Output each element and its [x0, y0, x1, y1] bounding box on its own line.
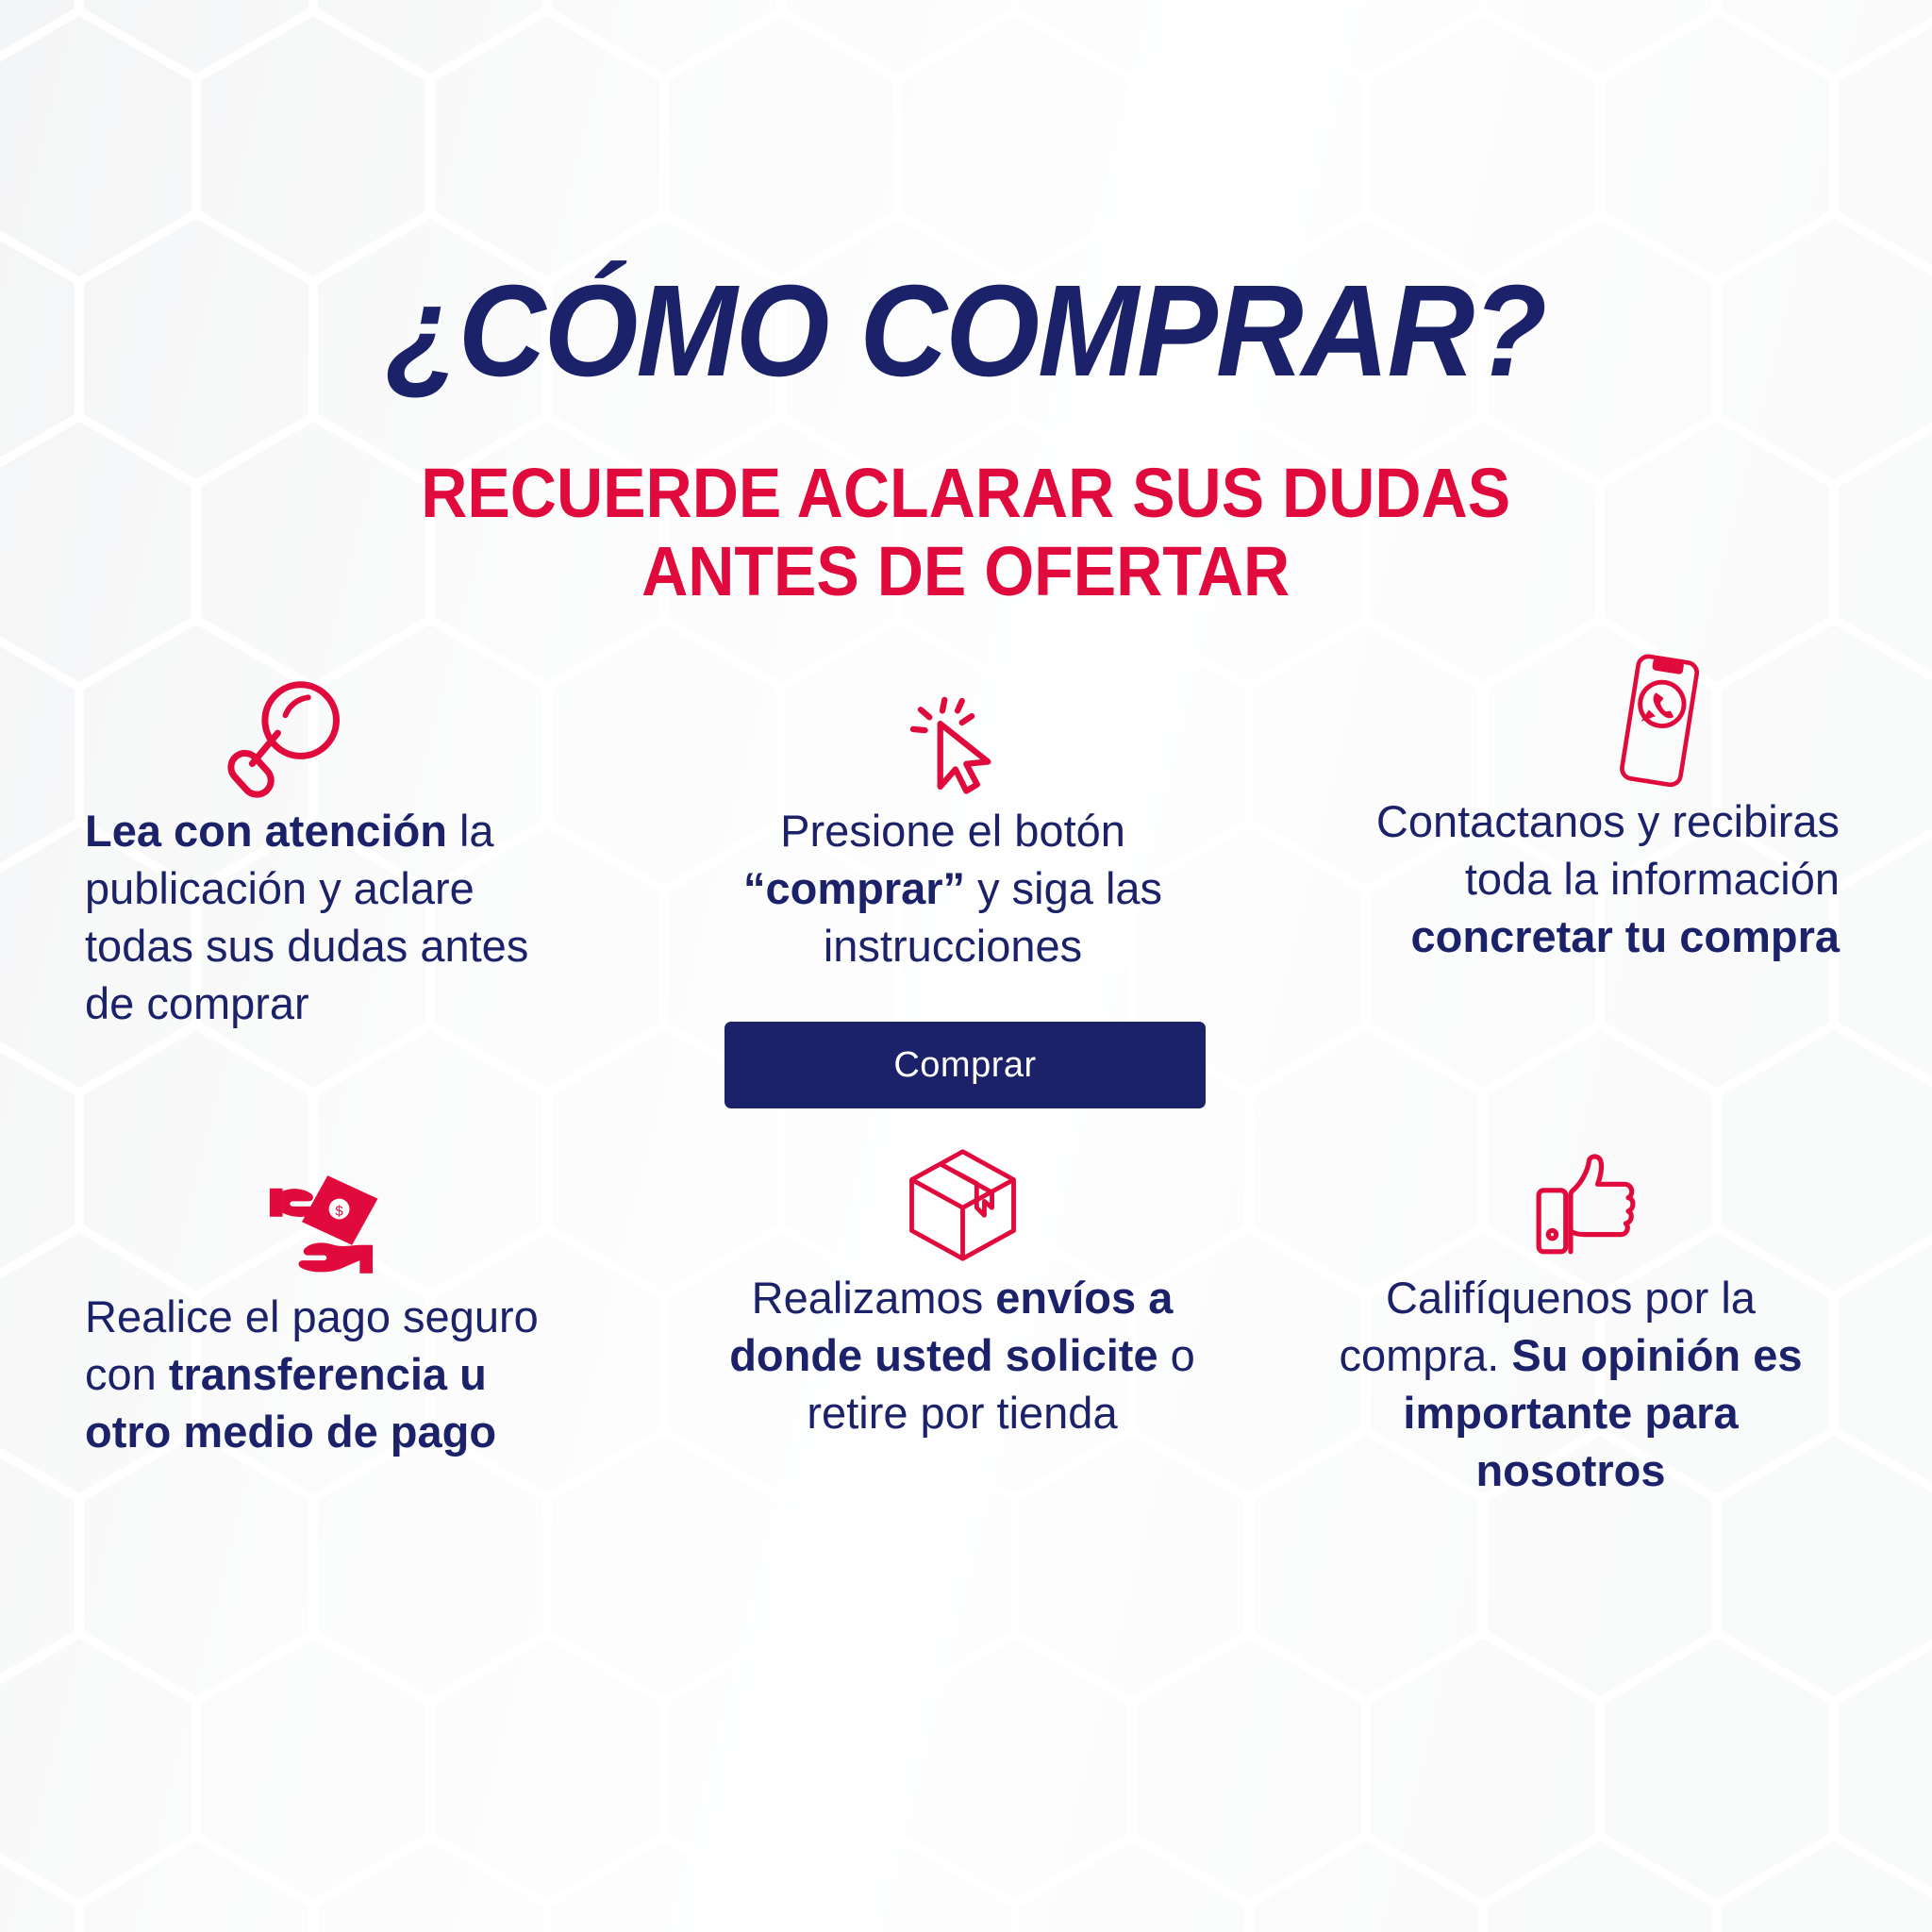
page-title-container: ¿CÓMO COMPRAR?: [0, 266, 1932, 396]
step-card-read-carefully: Lea con atención la publicación y aclare…: [85, 660, 585, 1032]
step-text-normal: Contactanos y recibiras toda la informac…: [1376, 796, 1840, 904]
step-text: Contactanos y recibiras toda la informac…: [1340, 792, 1840, 965]
svg-text:$: $: [335, 1203, 343, 1219]
magnifier-icon: [222, 675, 349, 802]
package-box-icon: [899, 1141, 1026, 1269]
step-card-shipping: Realizamos envíos a donde usted solicite…: [698, 1127, 1226, 1441]
cursor-click-icon: [899, 693, 1008, 802]
step-text: Califíquenos por la compra. Su opinión e…: [1321, 1269, 1821, 1499]
icon-container: [698, 1127, 1226, 1269]
step-text: Realizamos envíos a donde usted solicite…: [698, 1269, 1226, 1441]
page-title: ¿CÓMO COMPRAR?: [387, 266, 1546, 396]
infographic-canvas: ¿CÓMO COMPRAR? RECUERDE ACLARAR SUS DUDA…: [0, 0, 1932, 1932]
step-text-normal-1: Presione el botón: [780, 806, 1125, 856]
step-text-bold: “comprar”: [743, 863, 965, 913]
step-text-bold: Lea con atención: [85, 806, 447, 856]
icon-container: [85, 660, 585, 802]
cash-hand-icon: $: [259, 1165, 401, 1288]
step-card-contact-us: Contactanos y recibiras toda la informac…: [1340, 651, 1840, 965]
page-subtitle: RECUERDE ACLARAR SUS DUDAS ANTES DE OFER…: [422, 455, 1511, 611]
page-subtitle-line2: ANTES DE OFERTAR: [422, 533, 1511, 611]
step-text-normal-1: Realizamos: [752, 1273, 996, 1323]
step-text: Realice el pago seguro con transferencia…: [85, 1288, 585, 1460]
icon-container: $: [85, 1146, 585, 1288]
page-subtitle-line1: RECUERDE ACLARAR SUS DUDAS: [422, 454, 1511, 532]
step-card-secure-payment: $ Realice el pago seguro con transferenc…: [85, 1146, 585, 1460]
step-text: Presione el botón “comprar” y siga las i…: [689, 802, 1217, 974]
comprar-button[interactable]: Comprar: [724, 1022, 1206, 1108]
thumbs-up-icon: [1528, 1146, 1646, 1269]
whatsapp-phone-icon: [1599, 651, 1717, 792]
step-text-bold: concretar tu compra: [1411, 911, 1840, 961]
page-subtitle-container: RECUERDE ACLARAR SUS DUDAS ANTES DE OFER…: [0, 455, 1932, 611]
icon-container: [689, 660, 1217, 802]
icon-container: [1321, 1127, 1821, 1269]
step-text: Lea con atención la publicación y aclare…: [85, 802, 585, 1032]
step-card-press-buy-button: Presione el botón “comprar” y siga las i…: [689, 660, 1217, 974]
step-card-rate-us: Califíquenos por la compra. Su opinión e…: [1321, 1127, 1821, 1499]
icon-container: [1340, 651, 1840, 792]
